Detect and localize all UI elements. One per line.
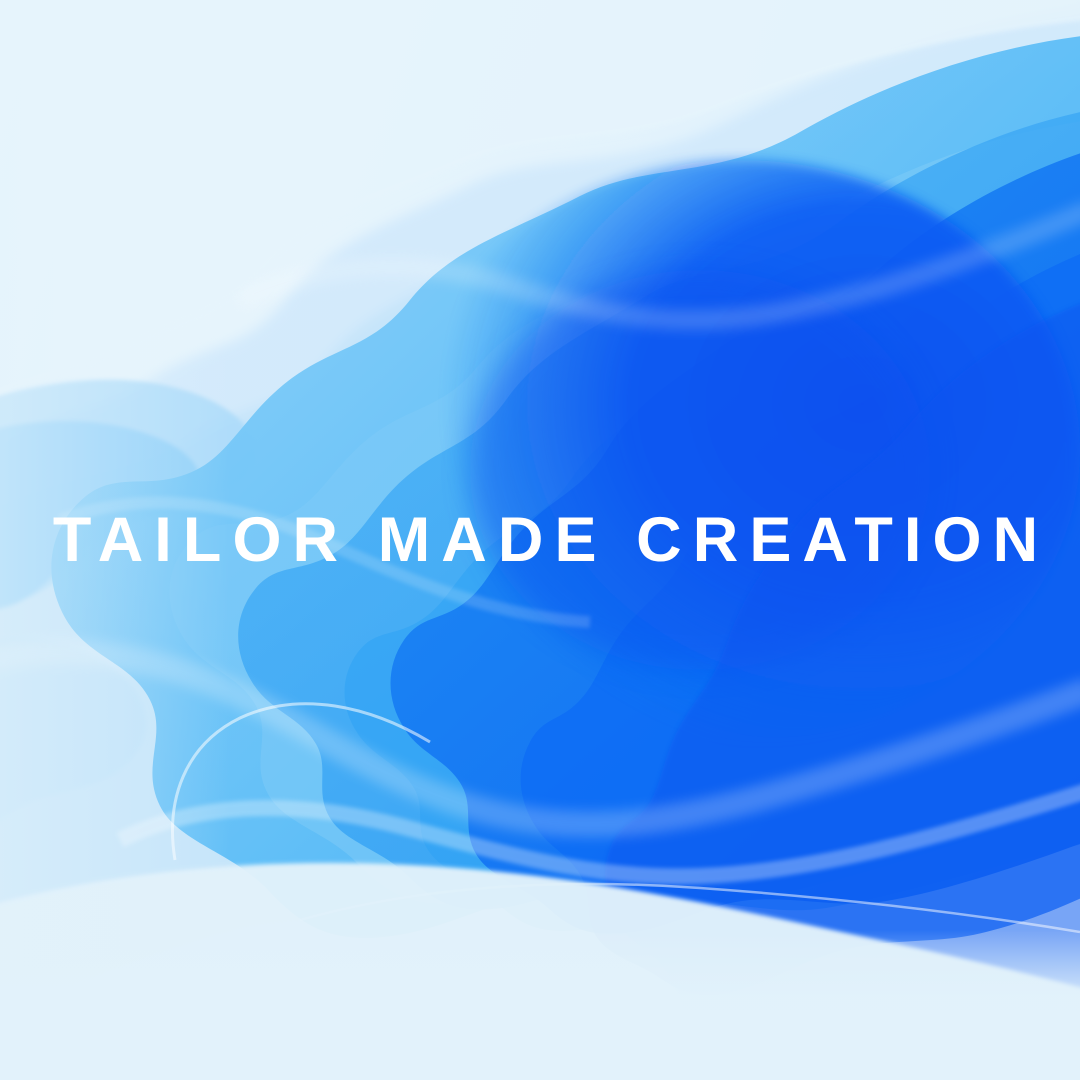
poster-canvas: TAILOR MADE CREATION	[0, 0, 1080, 1080]
watercolor-blob-artwork	[0, 0, 1080, 1080]
